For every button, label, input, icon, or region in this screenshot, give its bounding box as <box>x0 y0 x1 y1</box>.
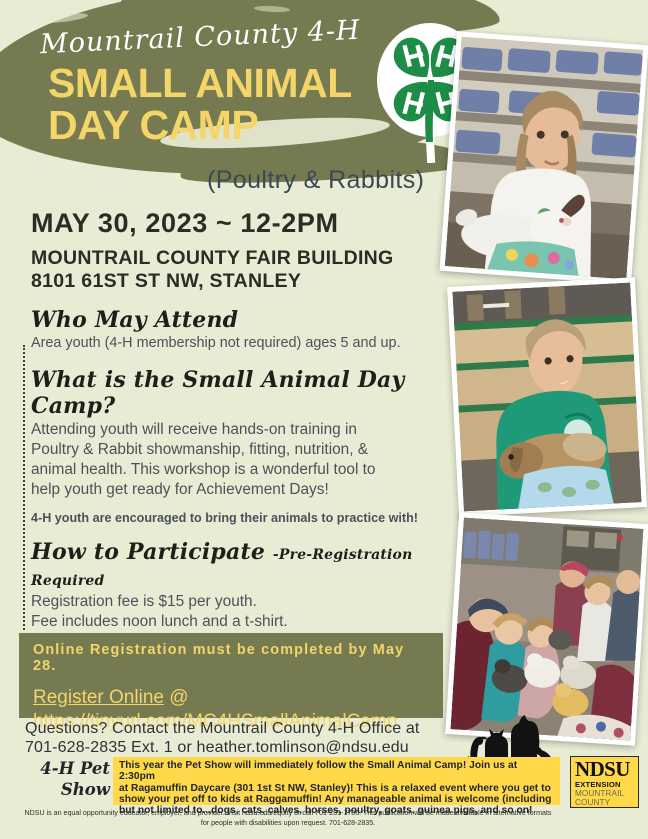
pet-show-callout-line: This year the Pet Show will immediately … <box>119 760 554 783</box>
section-body-line: Registration fee is $15 per youth. <box>31 592 443 612</box>
event-venue: MOUNTRAIL COUNTY FAIR BUILDING 8101 61ST… <box>31 247 443 293</box>
page-title-line2: DAY CAMP <box>48 104 352 146</box>
section-note: 4-H youth are encouraged to bring their … <box>31 511 443 525</box>
photo-youth-with-chickens <box>445 512 648 745</box>
pet-show-label-line1: 4-H Pet <box>24 758 110 779</box>
page-title-line1: SMALL ANIMAL <box>48 62 352 104</box>
contact-block: Questions? Contact the Mountrail County … <box>25 719 420 757</box>
section-how-to-participate: How to Participate -Pre-Registration Req… <box>31 539 443 632</box>
pet-show-label-line2: Show <box>24 779 110 800</box>
section-heading: Who May Attend <box>31 307 443 333</box>
section-body-line: help youth get ready for Achievement Day… <box>31 480 443 500</box>
section-body: Attending youth will receive hands-on tr… <box>31 420 443 500</box>
contact-line-1: Questions? Contact the Mountrail County … <box>25 719 420 738</box>
section-body-line: Area youth (4-H membership not required)… <box>31 334 443 353</box>
section-body-line: animal health. This workshop is a wonder… <box>31 460 443 480</box>
section-heading-text: How to Participate <box>31 539 265 565</box>
ndsu-county-line1: MOUNTRAIL <box>575 789 638 798</box>
section-body-line: Fee includes noon lunch and a t-shirt. <box>31 612 443 632</box>
ndsu-wordmark: NDSU <box>575 759 638 780</box>
section-body-line: Attending youth will receive hands-on tr… <box>31 420 443 440</box>
page-subtitle: (Poultry & Rabbits) <box>207 166 424 195</box>
section-body-line: Poultry & Rabbit showmanship, fitting, n… <box>31 440 443 460</box>
disclaimer-line-1: NDSU is an equal opportunity educator, e… <box>25 809 526 817</box>
at-symbol: @ <box>169 687 188 708</box>
venue-line-2: 8101 61ST ST NW, STANLEY <box>31 270 443 293</box>
page-title: SMALL ANIMAL DAY CAMP <box>48 62 352 146</box>
section-body: Area youth (4-H membership not required)… <box>31 334 443 353</box>
section-body: Registration fee is $15 per youth. Fee i… <box>31 592 443 632</box>
registration-deadline: Online Registration must be completed by… <box>33 642 429 674</box>
section-who-may-attend: Who May Attend Area youth (4-H membershi… <box>31 307 443 353</box>
registration-callout: Online Registration must be completed by… <box>19 633 443 718</box>
pet-show-callout: This year the Pet Show will immediately … <box>113 757 560 805</box>
section-heading: What is the Small Animal Day Camp? <box>31 367 443 419</box>
event-date-time: MAY 30, 2023 ~ 12-2PM <box>31 208 443 239</box>
venue-line-1: MOUNTRAIL COUNTY FAIR BUILDING <box>31 247 443 270</box>
main-content: MAY 30, 2023 ~ 12-2PM MOUNTRAIL COUNTY F… <box>31 208 443 632</box>
pets-silhouette-icon <box>455 712 555 762</box>
section-what-is-camp: What is the Small Animal Day Camp? Atten… <box>31 367 443 525</box>
dotted-divider <box>23 345 25 630</box>
pet-show-callout-line: show your pet off to kids at Raggamuffin… <box>119 794 554 805</box>
photo-girl-with-white-rabbit <box>439 31 648 284</box>
legal-disclaimer: NDSU is an equal opportunity educator, e… <box>24 809 552 828</box>
register-online-link[interactable]: Register Online <box>33 687 164 708</box>
ndsu-county-line2: COUNTY <box>575 798 638 807</box>
photo-girl-with-lop-rabbit <box>447 277 647 517</box>
contact-line-2[interactable]: 701-628-2835 Ext. 1 or heather.tomlinson… <box>25 738 420 757</box>
flyer-page: Mountrail County 4-H SMALL ANIMAL DAY CA… <box>0 0 648 839</box>
ndsu-extension-logo: NDSU EXTENSION MOUNTRAIL COUNTY <box>570 756 639 808</box>
ndsu-extension-label: EXTENSION <box>575 780 638 789</box>
section-heading: How to Participate -Pre-Registration Req… <box>31 539 443 591</box>
pet-show-label: 4-H Pet Show <box>24 758 110 800</box>
pet-show-callout-line: at Ragamuffin Daycare (301 1st St NW, St… <box>119 783 554 794</box>
